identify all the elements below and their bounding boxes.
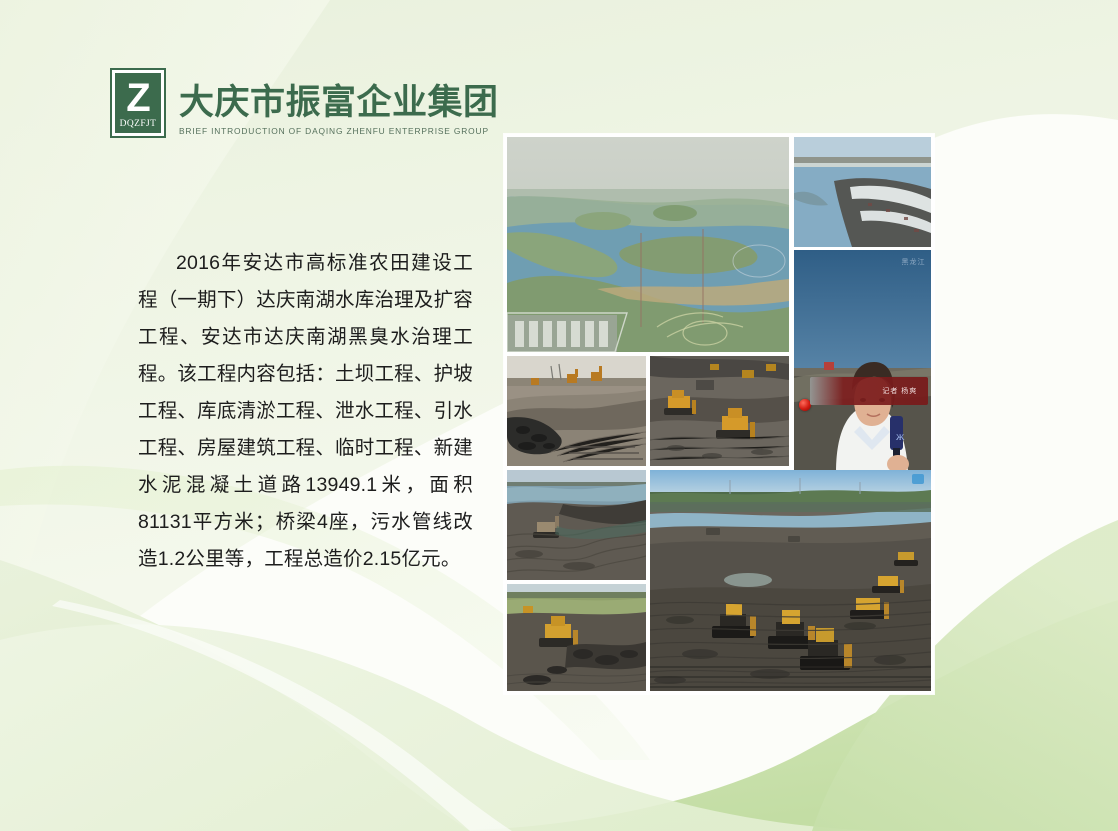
photo-excavators-sludge-removal bbox=[507, 356, 646, 466]
logo-wordmark: 大庆市振富企业集团 BRIEF INTRODUCTION OF DAQING Z… bbox=[179, 68, 499, 137]
photo-aerial-reservoir-embankment bbox=[794, 137, 931, 247]
photo-tv-reporter-interview: ж 黑龙江 记者 杨爽 bbox=[794, 250, 931, 472]
logo-mark-icon: Z DQZFJT bbox=[110, 68, 166, 138]
company-name-cn: 大庆市振富企业集团 bbox=[179, 84, 499, 122]
photo-bulldozer-grassland-edge bbox=[507, 584, 646, 691]
reporter-caption-text: 记者 杨爽 bbox=[882, 386, 917, 396]
record-indicator-icon bbox=[799, 399, 811, 411]
photo-wide-site-panorama-machinery bbox=[650, 470, 931, 691]
reporter-caption-bar: 记者 杨爽 bbox=[810, 377, 928, 406]
photo-collage: ж 黑龙江 记者 杨爽 bbox=[504, 134, 934, 694]
tv-channel-watermark: 黑龙江 bbox=[902, 257, 926, 267]
company-logo: Z DQZFJT 大庆市振富企业集团 BRIEF INTRODUCTION OF… bbox=[110, 68, 499, 138]
photo-dredging-beside-water bbox=[507, 470, 646, 580]
photo-bulldozers-on-sludge-slope bbox=[650, 356, 789, 466]
company-name-en: BRIEF INTRODUCTION OF DAQING ZHENFU ENTE… bbox=[179, 125, 499, 137]
logo-abbreviation: DQZFJT bbox=[120, 119, 157, 130]
project-description-paragraph: 2016年安达市高标准农田建设工程（一期下）达庆南湖水库治理及扩容工程、安达市达… bbox=[138, 245, 473, 578]
logo-letter-z: Z bbox=[126, 78, 149, 118]
channel-logo-badge-icon bbox=[912, 474, 924, 484]
svg-text:ж: ж bbox=[895, 429, 905, 443]
slide-canvas: Z DQZFJT 大庆市振富企业集团 BRIEF INTRODUCTION OF… bbox=[0, 0, 1118, 831]
photo-lake-masterplan-rendering bbox=[507, 137, 789, 352]
